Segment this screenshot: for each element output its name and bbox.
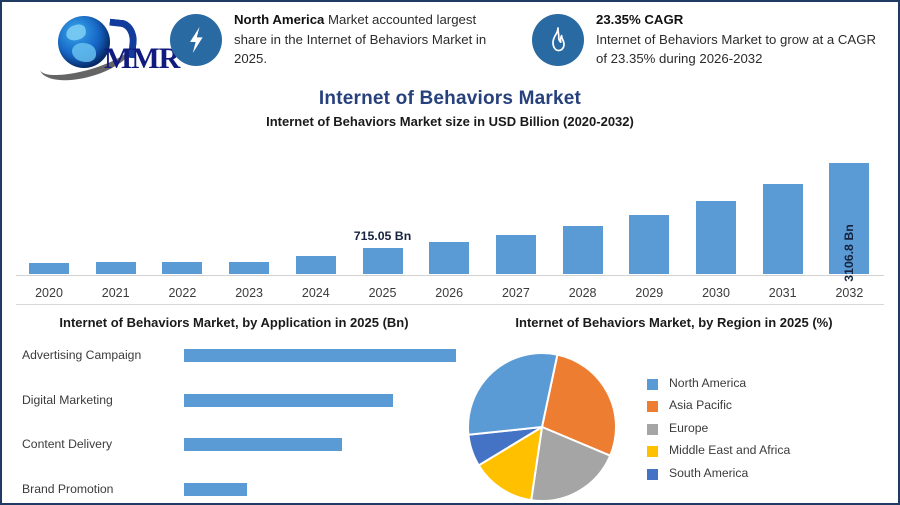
application-row: Advertising Campaign — [16, 340, 456, 378]
bar-group-2025: 2025715.05 Bn — [350, 161, 416, 274]
flame-droplet-icon — [532, 14, 584, 66]
header-card-north-america: North America Market accounted largest s… — [170, 10, 510, 74]
application-row: Content Delivery — [16, 429, 456, 467]
header: MMR North America Market accounted large… — [2, 2, 898, 80]
bar-2023 — [229, 262, 269, 274]
header-card-cagr: 23.35% CAGRInternet of Behaviors Market … — [532, 10, 882, 74]
bar-group-2023: 2023 — [216, 161, 282, 274]
bar-2030 — [696, 201, 736, 274]
pie-slice-north-america — [468, 353, 557, 435]
bar-2021 — [96, 262, 136, 274]
legend-label: North America — [669, 374, 746, 393]
bar-2028 — [563, 226, 603, 274]
legend-swatch-icon — [647, 424, 658, 435]
legend-label: Middle East and Africa — [669, 441, 790, 460]
header-card-two-text: 23.35% CAGRInternet of Behaviors Market … — [596, 10, 882, 69]
infographic-frame: MMR North America Market accounted large… — [0, 0, 900, 505]
bar-group-2028: 2028 — [550, 161, 616, 274]
legend-swatch-icon — [647, 379, 658, 390]
bar-group-2022: 2022 — [149, 161, 215, 274]
legend-label: Asia Pacific — [669, 396, 732, 415]
bar-2025 — [363, 248, 403, 274]
bar-2024 — [296, 256, 336, 274]
logo-text: MMR — [104, 42, 179, 76]
bar-group-2020: 2020 — [16, 161, 82, 274]
bar-2022 — [162, 262, 202, 274]
section-divider — [16, 304, 884, 305]
bar-2020 — [29, 263, 69, 274]
bar-x-label-2026: 2026 — [416, 286, 482, 300]
legend-label: South America — [669, 464, 748, 483]
bar-2029 — [629, 215, 669, 274]
legend-item: Europe — [647, 419, 887, 441]
header-card-one-text: North America Market accounted largest s… — [234, 10, 510, 69]
legend-swatch-icon — [647, 469, 658, 480]
bar-group-2026: 2026 — [416, 161, 482, 274]
bar-2026 — [429, 242, 469, 274]
bar-x-label-2030: 2030 — [683, 286, 749, 300]
mmr-logo: MMR — [16, 6, 166, 78]
region-legend: North AmericaAsia PacificEuropeMiddle Ea… — [647, 374, 887, 486]
bar-group-2029: 2029 — [616, 161, 682, 274]
chart-baseline — [16, 275, 884, 276]
bar-group-2027: 2027 — [483, 161, 549, 274]
bar-group-2021: 2021 — [83, 161, 149, 274]
legend-item: North America — [647, 374, 887, 396]
bar-x-label-2024: 2024 — [283, 286, 349, 300]
application-bar-chart: Advertising CampaignDigital MarketingCon… — [16, 340, 456, 502]
application-label: Advertising Campaign — [22, 348, 172, 362]
header-card-two-body: Internet of Behaviors Market to grow at … — [596, 32, 876, 67]
application-bar — [184, 349, 456, 362]
market-size-bar-chart: 202020212022202320242025715.05 Bn2026202… — [2, 134, 898, 302]
application-bar — [184, 438, 342, 451]
application-chart-title: Internet of Behaviors Market, by Applica… — [16, 315, 452, 330]
bar-x-label-2031: 2031 — [750, 286, 816, 300]
bar-x-label-2023: 2023 — [216, 286, 282, 300]
bar-x-label-2029: 2029 — [616, 286, 682, 300]
application-row: Digital Marketing — [16, 385, 456, 423]
bar-group-2024: 2024 — [283, 161, 349, 274]
bar-x-label-2028: 2028 — [550, 286, 616, 300]
application-row: Brand Promotion — [16, 474, 456, 505]
bar-x-label-2021: 2021 — [83, 286, 149, 300]
bar-x-label-2032: 2032 — [816, 286, 882, 300]
application-label: Brand Promotion — [22, 482, 172, 496]
region-chart-title: Internet of Behaviors Market, by Region … — [462, 315, 886, 330]
bar-x-label-2027: 2027 — [483, 286, 549, 300]
bar-group-2031: 2031 — [750, 161, 816, 274]
bar-2031 — [763, 184, 803, 274]
legend-item: South America — [647, 464, 887, 486]
globe-icon — [58, 16, 110, 68]
header-card-one-highlight: North America — [234, 12, 324, 27]
bar-group-2032: 3106.8 Bn2032 — [816, 161, 882, 274]
legend-swatch-icon — [647, 446, 658, 457]
application-bar — [184, 394, 393, 407]
legend-item: Middle East and Africa — [647, 441, 887, 463]
application-label: Content Delivery — [22, 437, 172, 451]
bar-group-2030: 2030 — [683, 161, 749, 274]
bar-x-label-2025: 2025 — [350, 286, 416, 300]
page-title: Internet of Behaviors Market — [2, 88, 898, 110]
header-card-two-highlight: 23.35% CAGR — [596, 12, 683, 27]
bar-2027 — [496, 235, 536, 274]
legend-label: Europe — [669, 419, 708, 438]
legend-swatch-icon — [647, 401, 658, 412]
bar-x-label-2020: 2020 — [16, 286, 82, 300]
page-subtitle: Internet of Behaviors Market size in USD… — [2, 114, 898, 129]
bar-x-label-2022: 2022 — [149, 286, 215, 300]
legend-item: Asia Pacific — [647, 396, 887, 418]
application-bar — [184, 483, 247, 496]
region-pie-chart — [468, 353, 616, 501]
bar-value-label-2032: 3106.8 Bn — [842, 224, 856, 281]
bar-2032: 3106.8 Bn — [829, 163, 869, 274]
application-label: Digital Marketing — [22, 393, 172, 407]
lightning-bolt-icon — [170, 14, 222, 66]
